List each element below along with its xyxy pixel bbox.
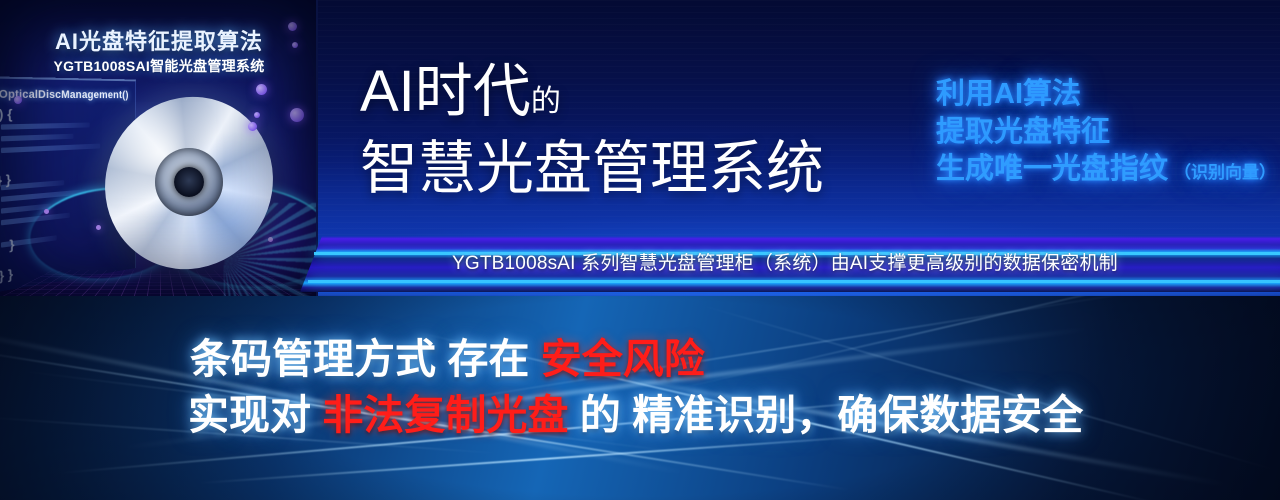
subtitle-band: YGTB1008sAI 系列智慧光盘管理柜（系统）由AI支撑更高级别的数据保密机…	[300, 236, 1280, 292]
code-brace: }	[9, 236, 14, 252]
hero-title: AI光盘特征提取算法	[0, 24, 318, 56]
feature-item-1-text: 利用AI算法	[936, 78, 1081, 110]
disc-center-hole	[174, 167, 204, 197]
bottom-line-1: 条码管理方式 存在 安全风险	[0, 334, 1280, 384]
glow-dot	[254, 112, 260, 118]
headline-line-2: 智慧光盘管理系统	[360, 139, 920, 198]
code-line	[1, 134, 73, 142]
bottom-line-2: 实现对 非法复制光盘 的 精准识别，确保数据安全	[0, 390, 1280, 440]
code-brace: ) {	[0, 106, 12, 122]
bottom-line-2-part-1: 实现对	[188, 392, 322, 438]
code-brace: } }	[0, 266, 13, 284]
main-headline: AI时代的 智慧光盘管理系统	[360, 62, 920, 198]
terrain-node	[44, 209, 49, 214]
code-brace: } }	[0, 172, 11, 189]
glow-dot	[14, 96, 22, 104]
terrain-node	[96, 225, 101, 230]
bottom-line-2-part-2: 非法复制光盘	[322, 392, 568, 438]
top-section: 01001 A 10010 11100 01 TO10 01 1000 110 …	[0, 0, 1280, 300]
hero-subtitle: YGTB1008SAI智能光盘管理系统	[0, 56, 318, 76]
feature-item-2-text: 提取光盘特征	[936, 116, 1110, 148]
bottom-line-1-part-2: 安全风险	[541, 336, 705, 382]
bottom-headline: 条码管理方式 存在 安全风险 实现对 非法复制光盘 的 精准识别，确保数据安全	[0, 334, 1280, 440]
bottom-line-2-part-3: 的 精准识别，确保数据安全	[568, 392, 1083, 438]
hero-card: OpticalDiscManagement() ) { } } } } }	[0, 0, 318, 300]
feature-item-3-text: 生成唯一光盘指纹	[936, 153, 1168, 185]
headline-line-1-suffix: 的	[531, 85, 561, 118]
code-line	[1, 144, 100, 154]
glow-dot	[290, 108, 304, 122]
glow-dot	[248, 122, 257, 131]
feature-item-2: 提取光盘特征	[936, 114, 1276, 152]
feature-item-1: 利用AI算法	[936, 76, 1276, 114]
banner-canvas: 01001 A 10010 11100 01 TO10 01 1000 110 …	[0, 0, 1280, 500]
headline-line-1: AI时代的	[360, 62, 920, 121]
headline-line-1-main: AI时代	[360, 59, 531, 124]
bottom-line-1-part-1: 条码管理方式 存在	[190, 336, 541, 382]
feature-item-3: 生成唯一光盘指纹（识别向量）	[936, 151, 1276, 189]
glow-dot	[256, 84, 267, 95]
feature-list: 利用AI算法 提取光盘特征 生成唯一光盘指纹（识别向量）	[936, 76, 1276, 189]
feature-item-3-note: （识别向量）	[1174, 163, 1276, 182]
band-text: YGTB1008sAI 系列智慧光盘管理柜（系统）由AI支撑更高级别的数据保密机…	[452, 236, 1118, 292]
code-line	[1, 123, 90, 130]
